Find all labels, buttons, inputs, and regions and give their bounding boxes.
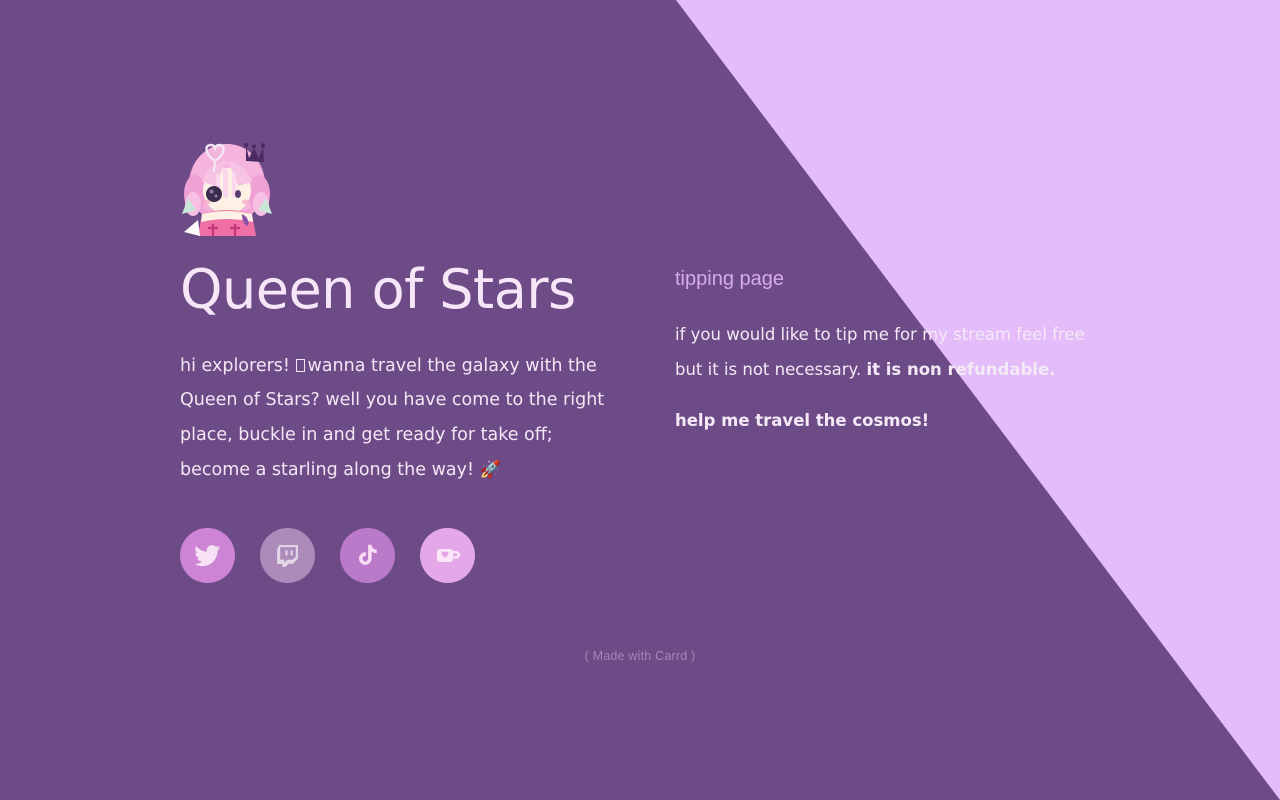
twitter-icon — [194, 542, 221, 569]
tiktok-icon — [355, 542, 381, 568]
social-item-tiktok — [340, 528, 420, 583]
social-link-twitter[interactable] — [180, 528, 235, 583]
profile-page: Queen of Stars hi explorers! wanna trave… — [0, 0, 1280, 800]
carrd-credit-link[interactable]: ( Made with Carrd ) — [585, 649, 696, 663]
social-item-twitter — [180, 528, 260, 583]
social-link-kofi[interactable] — [420, 528, 475, 583]
tipping-description: if you would like to tip me for my strea… — [675, 318, 1095, 387]
bio-text-before: hi explorers! — [180, 356, 295, 376]
social-item-twitch — [260, 528, 340, 583]
tipping-refund-notice: it is non refundable. — [866, 360, 1055, 379]
twitch-icon — [275, 543, 300, 568]
footer: ( Made with Carrd ) — [0, 645, 1280, 664]
profile-bio: hi explorers! wanna travel the galaxy wi… — [180, 349, 605, 488]
rocket-emoji: 🚀 — [480, 460, 501, 480]
social-link-tiktok[interactable] — [340, 528, 395, 583]
profile-section: Queen of Stars hi explorers! wanna trave… — [180, 128, 610, 583]
avatar — [180, 128, 274, 236]
social-link-twitch[interactable] — [260, 528, 315, 583]
tipping-page-link[interactable]: tipping page — [675, 266, 784, 292]
tipping-cta: help me travel the cosmos! — [675, 409, 1145, 432]
social-links — [180, 528, 610, 583]
missing-glyph-box — [296, 359, 305, 372]
social-item-kofi — [420, 528, 500, 583]
page-title: Queen of Stars — [180, 262, 610, 319]
kofi-cup-icon — [434, 541, 462, 569]
tipping-section: tipping page if you would like to tip me… — [675, 266, 1145, 432]
